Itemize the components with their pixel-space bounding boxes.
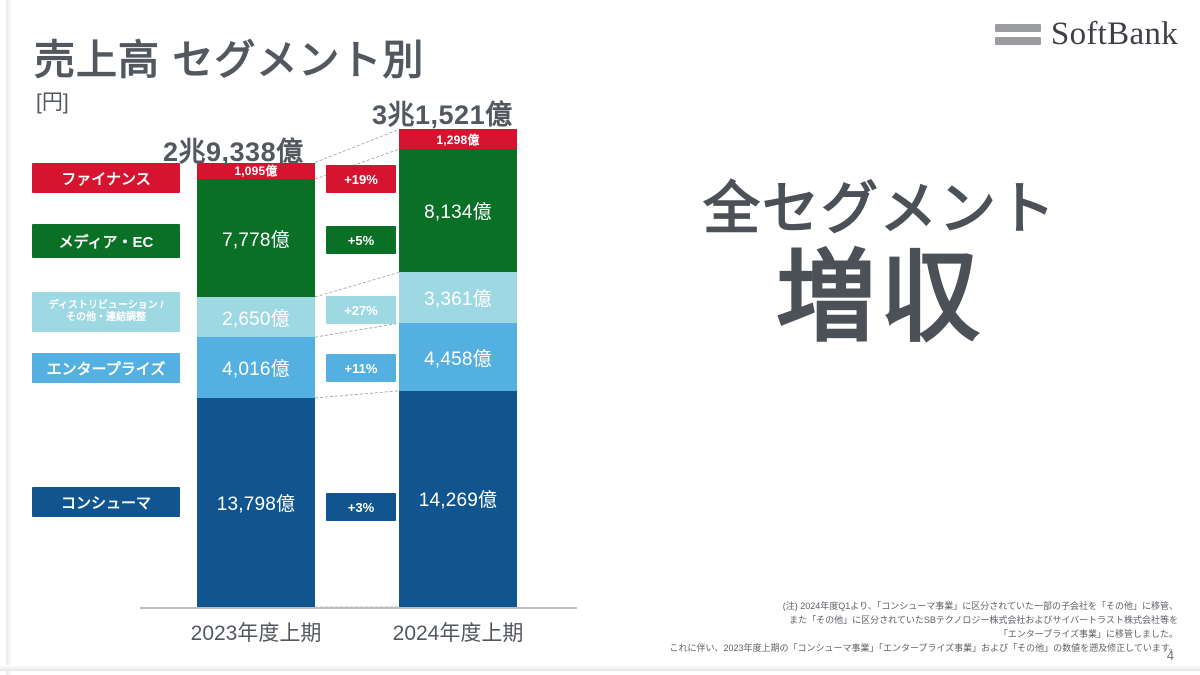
legend-item-label: メディア・EC <box>59 231 154 252</box>
slide-canvas: SoftBank 売上高 セグメント別 [円] 全セグメント 増収 ファイナンス… <box>0 0 1200 675</box>
growth-badge-4: +11% <box>326 354 396 382</box>
segment-value: 4,016億 <box>222 354 290 381</box>
legend-item-3: ディストリビューション /その他・連結調整 <box>32 292 180 332</box>
segment-value: 3,361億 <box>424 284 492 311</box>
bar-segment: 4,016億 <box>197 337 315 398</box>
softbank-logo: SoftBank <box>995 18 1178 51</box>
bar-segment: 4,458億 <box>399 323 517 391</box>
bar-total-2: 3兆1,521億 <box>372 93 513 132</box>
bar-segment: 8,134億 <box>399 149 517 272</box>
legend-item-label: コンシューマ <box>61 492 151 513</box>
bar-segment: 14,269億 <box>399 391 517 607</box>
growth-badge-2: +5% <box>326 226 396 254</box>
growth-badge-5: +3% <box>326 493 396 521</box>
legend-item-5: コンシューマ <box>32 487 180 517</box>
legend-item-label: エンタープライズ <box>47 358 166 379</box>
legend-item-1: ファイナンス <box>32 163 180 193</box>
footnote-block: (注) 2024年度Q1より、「コンシューマ事業」に区分されていた一部の子会社を… <box>558 600 1178 656</box>
legend-item-label: ディストリビューション /その他・連結調整 <box>49 300 164 325</box>
bar-segment: 13,798億 <box>197 398 315 607</box>
growth-badge-1: +19% <box>326 165 396 193</box>
softbank-wordmark: SoftBank <box>1051 18 1178 51</box>
x-axis-line <box>140 607 577 609</box>
bar-segment: 1,298億 <box>399 129 517 149</box>
bar-segment: 7,778億 <box>197 179 315 297</box>
bar-segment: 3,361億 <box>399 272 517 323</box>
segment-value: 2,650億 <box>222 304 290 331</box>
footnote-line-2: また「その他」に区分されていたSBテクノロジー株式会社およびサイバートラスト株式… <box>558 614 1178 628</box>
stacked-bar-chart: ファイナンスメディア・ECディストリビューション /その他・連結調整エンタープラ… <box>0 0 620 675</box>
bar-segment: 2,650億 <box>197 297 315 337</box>
segment-value: 1,298億 <box>436 131 479 148</box>
segment-value: 13,798億 <box>217 489 296 516</box>
segment-value: 8,134億 <box>424 197 492 224</box>
x-axis-label-1: 2023年度上期 <box>156 617 356 647</box>
footnote-line-1: (注) 2024年度Q1より、「コンシューマ事業」に区分されていた一部の子会社を… <box>558 600 1178 614</box>
legend-item-2: メディア・EC <box>32 224 180 258</box>
headline-message: 全セグメント 増収 <box>620 180 1140 351</box>
segment-value: 14,269億 <box>419 485 498 512</box>
headline-line-1: 全セグメント <box>620 180 1140 240</box>
softbank-bars-icon <box>995 24 1041 45</box>
segment-value: 7,778億 <box>222 225 290 252</box>
page-number: 4 <box>1167 648 1174 663</box>
x-axis-label-2: 2024年度上期 <box>358 617 558 647</box>
footnote-line-3: 「エンタープライズ事業」に移管しました。 <box>558 628 1178 642</box>
legend-item-4: エンタープライズ <box>32 353 180 383</box>
footnote-line-4: これに伴い、2023年度上期の「コンシューマ事業」「エンタープライズ事業」および… <box>558 642 1178 656</box>
bar-total-1: 2兆9,338億 <box>163 130 304 169</box>
headline-line-2: 増収 <box>620 246 1140 351</box>
segment-value: 4,458億 <box>424 344 492 371</box>
legend-item-label: ファイナンス <box>61 168 150 189</box>
growth-badge-3: +27% <box>326 296 396 324</box>
